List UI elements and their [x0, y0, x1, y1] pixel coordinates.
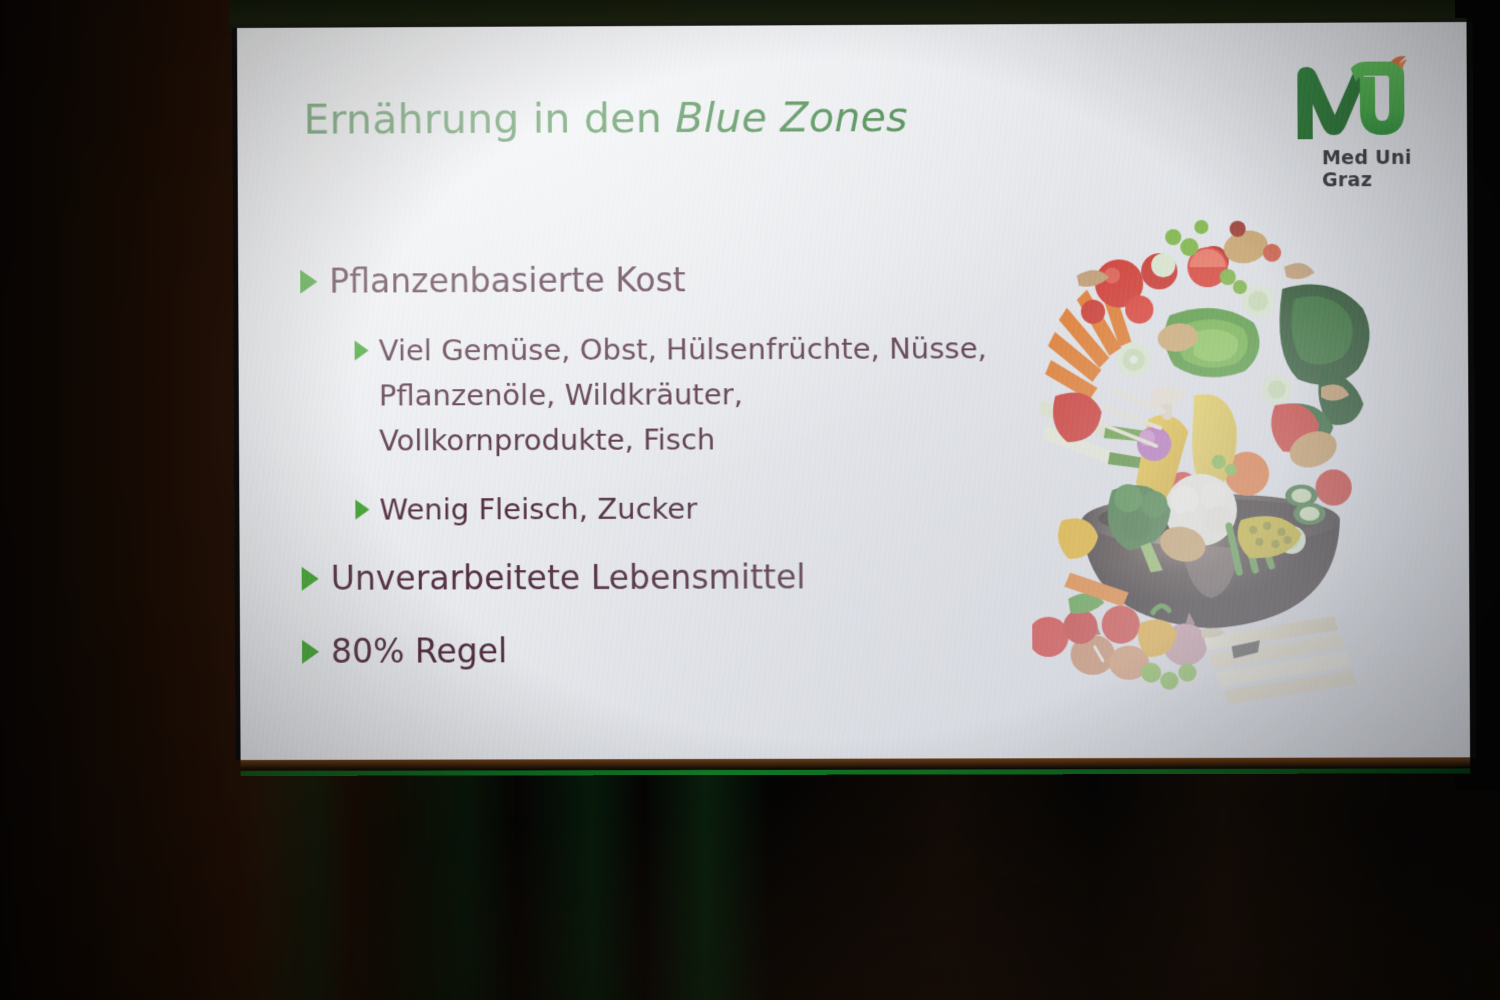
sub-bullet-line: Viel Gemüse, Obst, Hülsenfrüchte, Nüsse,: [379, 331, 987, 367]
bullet-item-3: 80% Regel: [302, 624, 1065, 678]
sub-bullet-line: Vollkornprodukte, Fisch: [379, 422, 715, 457]
sub-bullet-line: Pflanzenöle, Wildkräuter,: [379, 377, 743, 412]
triangle-bullet-icon: [355, 341, 369, 361]
bullet-label: Pflanzenbasierte Kost: [329, 254, 686, 307]
triangle-bullet-icon: [355, 500, 369, 520]
mu-mark-icon: [1293, 54, 1412, 141]
med-uni-graz-logo: Med Uni Graz: [1293, 54, 1419, 200]
bullet-list: Pflanzenbasierte Kost Viel Gemüse, Obst,…: [300, 253, 1065, 683]
sub-bullet-text-block: Viel Gemüse, Obst, Hülsenfrüchte, Nüsse,…: [379, 326, 988, 463]
title-italic-part: Blue Zones: [675, 93, 908, 142]
triangle-bullet-icon: [302, 640, 319, 664]
bullet-label: Unverarbeitete Lebensmittel: [331, 551, 806, 604]
vegetable-bowl-photo: [1030, 218, 1390, 721]
sub-bullet-item-2: Wenig Fleisch, Zucker: [355, 485, 1064, 532]
triangle-bullet-icon: [302, 567, 319, 591]
logo-line-1: Med Uni: [1322, 147, 1412, 169]
title-plain-part: Ernährung in den: [303, 94, 675, 144]
logo-wordmark: Med Uni Graz: [1322, 147, 1412, 192]
projection-screen: Ernährung in den Blue Zones Pflanzenbasi…: [237, 22, 1470, 760]
spacer: [301, 465, 1064, 487]
logo-line-2: Graz: [1322, 169, 1372, 191]
curtain-streaks: [240, 760, 1500, 1000]
triangle-bullet-icon: [300, 270, 317, 294]
page-title: Ernährung in den Blue Zones: [303, 93, 907, 144]
screenshot-stage: Ernährung in den Blue Zones Pflanzenbasi…: [0, 0, 1500, 1000]
bullet-item-1: Pflanzenbasierte Kost: [300, 253, 1063, 308]
sub-bullet-item-1: Viel Gemüse, Obst, Hülsenfrüchte, Nüsse,…: [355, 326, 1064, 464]
bullet-label: 80% Regel: [331, 625, 507, 677]
bullet-item-2: Unverarbeitete Lebensmittel: [302, 551, 1065, 605]
slide-canvas: Ernährung in den Blue Zones Pflanzenbasi…: [237, 22, 1470, 760]
sub-bullet-label: Wenig Fleisch, Zucker: [379, 487, 697, 533]
